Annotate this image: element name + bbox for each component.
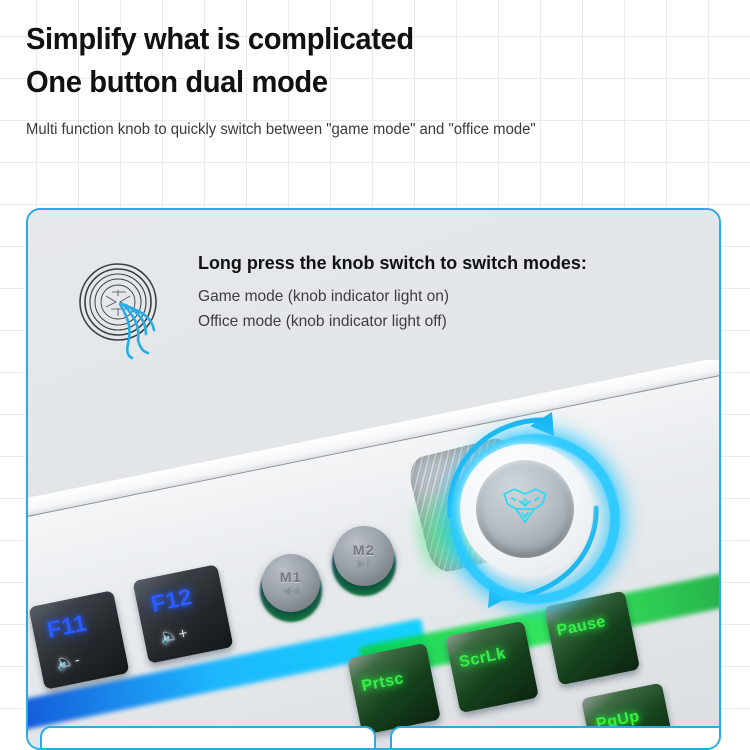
- instruction-line-game-mode: Game mode (knob indicator light on): [198, 288, 587, 306]
- key-f11[interactable]: F11 🔈-: [28, 590, 129, 689]
- m1-rewind-icon: ◀◀: [283, 586, 300, 597]
- key-f12[interactable]: F12 🔈+: [132, 564, 233, 663]
- m1-knob-label: M1: [280, 569, 302, 585]
- knob-face: [476, 460, 574, 558]
- page-subtitle: Multi function knob to quickly switch be…: [26, 121, 698, 139]
- instruction-text: Long press the knob switch to switch mod…: [198, 252, 599, 331]
- header: Simplify what is complicated One button …: [26, 18, 726, 139]
- key-f11-volume-down-icon: 🔈-: [55, 650, 82, 672]
- spider-logo-emblem-icon: [496, 484, 554, 534]
- instruction-block: Long press the knob switch to switch mod…: [48, 232, 708, 352]
- m2-playpause-icon: ▶‖: [357, 559, 370, 570]
- key-f11-label: F11: [45, 609, 89, 643]
- bottom-card-right[interactable]: [390, 726, 721, 750]
- key-pause-label: Pause: [555, 613, 607, 641]
- instruction-line-office-mode: Office mode (knob indicator light off): [198, 313, 587, 331]
- feature-panel: Long press the knob switch to switch mod…: [26, 208, 721, 750]
- key-f12-label: F12: [149, 583, 195, 618]
- m2-knob-label: M2: [353, 542, 375, 558]
- key-prtsc-label: Prtsc: [360, 670, 405, 696]
- keyboard-photo: F11 🔈- F12 🔈+ Prtsc ScrLk Pause: [28, 360, 719, 750]
- multifunction-knob[interactable]: [424, 420, 609, 605]
- bottom-card-left[interactable]: [40, 726, 376, 750]
- page-background: Simplify what is complicated One button …: [0, 0, 750, 750]
- key-f12-volume-up-icon: 🔈+: [159, 624, 189, 647]
- m1-knob[interactable]: M1 ◀◀: [262, 554, 320, 612]
- key-prtsc[interactable]: Prtsc: [347, 643, 441, 735]
- key-scrlk[interactable]: ScrLk: [445, 621, 539, 713]
- m2-knob[interactable]: M2 ▶‖: [334, 526, 394, 586]
- instruction-title: Long press the knob switch to switch mod…: [198, 252, 587, 274]
- knob-press-illustration-icon: [70, 252, 178, 360]
- key-scrlk-label: ScrLk: [458, 645, 508, 672]
- page-title-line-1: Simplify what is complicated: [26, 18, 684, 61]
- page-title-line-2: One button dual mode: [26, 61, 684, 104]
